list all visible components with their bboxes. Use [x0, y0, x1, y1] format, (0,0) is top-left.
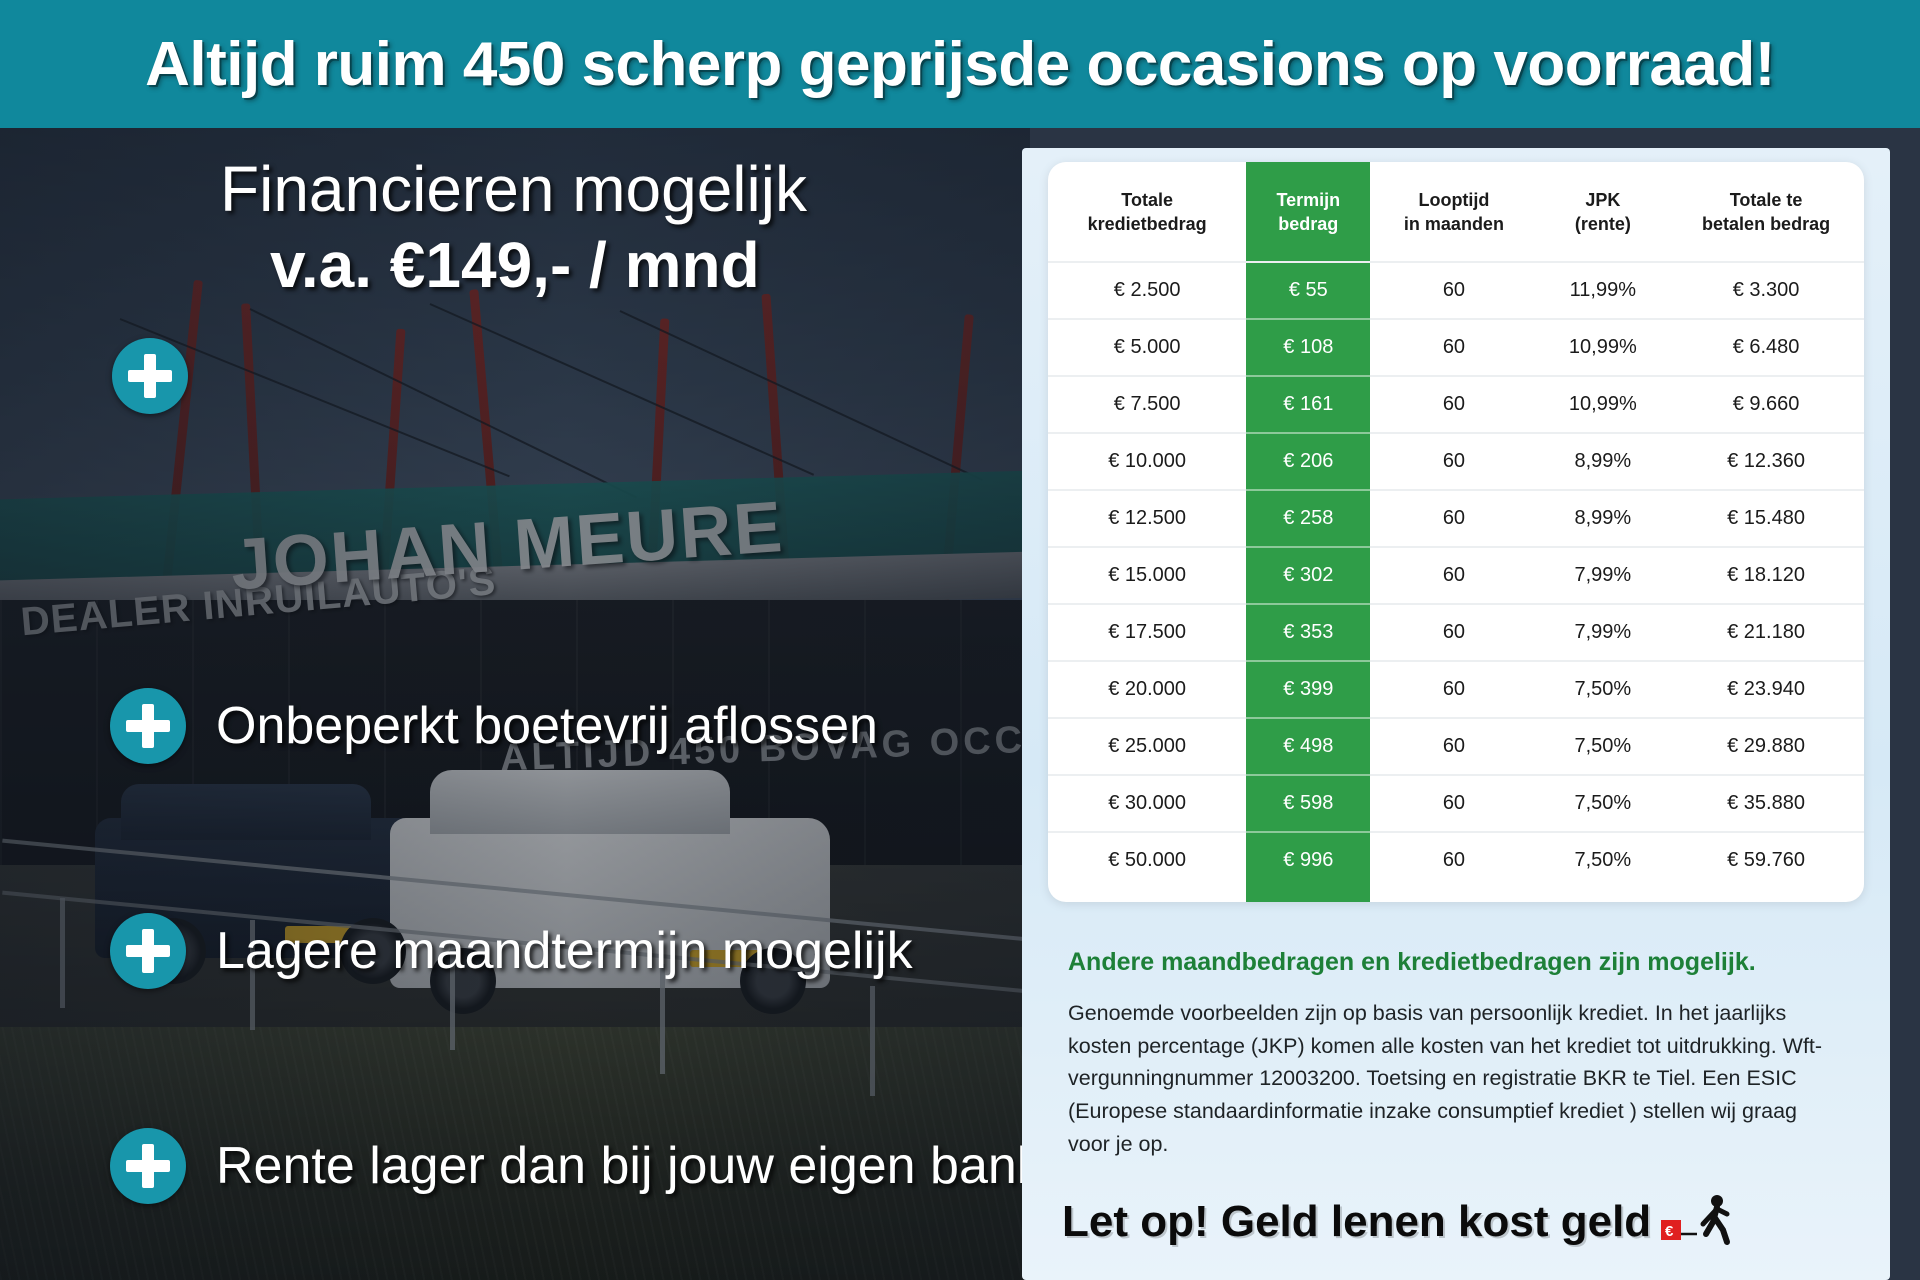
table-cell: 7,50%	[1538, 775, 1669, 832]
table-cell: 60	[1370, 547, 1537, 604]
table-row: € 2.500€ 556011,99%€ 3.300	[1048, 262, 1864, 319]
table-cell: € 15.480	[1668, 490, 1864, 547]
benefit-item-1: Onbeperkt boetevrij aflossen	[110, 688, 878, 764]
benefit-item-3: Rente lager dan bij jouw eigen bank	[110, 1128, 1043, 1204]
plus-icon	[110, 1128, 186, 1204]
disclaimer-heading: Andere maandbedragen en kredietbedragen …	[1068, 948, 1828, 977]
table-cell: € 50.000	[1048, 832, 1246, 888]
table-cell: € 996	[1246, 832, 1370, 888]
table-column-header: Termijn bedrag	[1246, 162, 1370, 262]
table-cell: € 353	[1246, 604, 1370, 661]
plus-icon	[110, 913, 186, 989]
table-cell: € 12.360	[1668, 433, 1864, 490]
table-row: € 20.000€ 399607,50%€ 23.940	[1048, 661, 1864, 718]
table-cell: € 3.300	[1668, 262, 1864, 319]
credit-warning-text: Let op! Geld lenen kost geld	[1062, 1197, 1651, 1247]
table-row: € 5.000€ 1086010,99%€ 6.480	[1048, 319, 1864, 376]
table-cell: € 206	[1246, 433, 1370, 490]
table-cell: 60	[1370, 433, 1537, 490]
table-column-header: Totale kredietbedrag	[1048, 162, 1246, 262]
finance-table-card: Totale kredietbedragTermijn bedragLoopti…	[1048, 162, 1864, 902]
table-column-header: JPK (rente)	[1538, 162, 1669, 262]
table-row: € 15.000€ 302607,99%€ 18.120	[1048, 547, 1864, 604]
headline-text: Altijd ruim 450 scherp geprijsde occasio…	[145, 29, 1775, 100]
table-cell: € 29.880	[1668, 718, 1864, 775]
table-cell: € 598	[1246, 775, 1370, 832]
table-cell: € 7.500	[1048, 376, 1246, 433]
table-cell: € 17.500	[1048, 604, 1246, 661]
table-cell: 8,99%	[1538, 490, 1669, 547]
table-row: € 10.000€ 206608,99%€ 12.360	[1048, 433, 1864, 490]
table-cell: 7,50%	[1538, 661, 1669, 718]
table-row: € 50.000€ 996607,50%€ 59.760	[1048, 832, 1864, 888]
table-row: € 7.500€ 1616010,99%€ 9.660	[1048, 376, 1864, 433]
hero-block: Financieren mogelijk v.a. €149,- / mnd	[110, 156, 1010, 300]
headline-bar: Altijd ruim 450 scherp geprijsde occasio…	[0, 0, 1920, 128]
finance-promo-banner: Altijd ruim 450 scherp geprijsde occasio…	[0, 0, 1920, 1280]
table-cell: 60	[1370, 490, 1537, 547]
table-cell: € 9.660	[1668, 376, 1864, 433]
table-cell: € 23.940	[1668, 661, 1864, 718]
table-row: € 25.000€ 498607,50%€ 29.880	[1048, 718, 1864, 775]
table-row: € 12.500€ 258608,99%€ 15.480	[1048, 490, 1864, 547]
table-cell: € 5.000	[1048, 319, 1246, 376]
table-cell: 7,50%	[1538, 718, 1669, 775]
table-cell: € 15.000	[1048, 547, 1246, 604]
table-cell: € 18.120	[1668, 547, 1864, 604]
table-cell: € 59.760	[1668, 832, 1864, 888]
geld-lenen-kost-geld-icon: €	[1661, 1194, 1735, 1250]
benefit-item-2: Lagere maandtermijn mogelijk	[110, 913, 913, 989]
table-cell: € 108	[1246, 319, 1370, 376]
disclaimer-block: Andere maandbedragen en kredietbedragen …	[1068, 948, 1828, 1160]
table-cell: 60	[1370, 319, 1537, 376]
table-header: Totale kredietbedragTermijn bedragLoopti…	[1048, 162, 1864, 262]
table-cell: € 258	[1246, 490, 1370, 547]
table-cell: € 55	[1246, 262, 1370, 319]
finance-table-panel: Totale kredietbedragTermijn bedragLoopti…	[1022, 148, 1890, 1280]
table-cell: 8,99%	[1538, 433, 1669, 490]
table-column-header: Looptijd in maanden	[1370, 162, 1537, 262]
table-cell: € 25.000	[1048, 718, 1246, 775]
table-cell: € 399	[1246, 661, 1370, 718]
benefit-label: Lagere maandtermijn mogelijk	[216, 921, 913, 981]
table-cell: € 35.880	[1668, 775, 1864, 832]
table-header-row: Totale kredietbedragTermijn bedragLoopti…	[1048, 162, 1864, 262]
table-cell: € 21.180	[1668, 604, 1864, 661]
table-cell: 7,50%	[1538, 832, 1669, 888]
table-cell: € 20.000	[1048, 661, 1246, 718]
plus-icon	[110, 688, 186, 764]
table-cell: 60	[1370, 718, 1537, 775]
svg-text:€: €	[1665, 1223, 1674, 1240]
table-row: € 30.000€ 598607,50%€ 35.880	[1048, 775, 1864, 832]
table-cell: € 2.500	[1048, 262, 1246, 319]
table-cell: 11,99%	[1538, 262, 1669, 319]
benefit-label: Rente lager dan bij jouw eigen bank	[216, 1136, 1043, 1196]
plus-icon	[112, 338, 188, 414]
table-cell: 10,99%	[1538, 319, 1669, 376]
table-cell: 7,99%	[1538, 604, 1669, 661]
table-cell: € 6.480	[1668, 319, 1864, 376]
table-cell: 60	[1370, 661, 1537, 718]
credit-warning: Let op! Geld lenen kost geld €	[1062, 1194, 1852, 1250]
table-cell: € 302	[1246, 547, 1370, 604]
table-cell: € 161	[1246, 376, 1370, 433]
table-cell: 60	[1370, 775, 1537, 832]
table-cell: 60	[1370, 376, 1537, 433]
table-cell: 60	[1370, 832, 1537, 888]
table-cell: € 498	[1246, 718, 1370, 775]
table-cell: 10,99%	[1538, 376, 1669, 433]
table-cell: 7,99%	[1538, 547, 1669, 604]
table-cell: € 30.000	[1048, 775, 1246, 832]
table-cell: 60	[1370, 604, 1537, 661]
hero-line-1: Financieren mogelijk	[110, 156, 1010, 224]
table-cell: 60	[1370, 262, 1537, 319]
disclaimer-body: Genoemde voorbeelden zijn op basis van p…	[1068, 997, 1828, 1160]
table-body: € 2.500€ 556011,99%€ 3.300€ 5.000€ 10860…	[1048, 262, 1864, 888]
left-content: Financieren mogelijk v.a. €149,- / mnd O…	[0, 128, 1030, 1280]
hero-line-2: v.a. €149,- / mnd	[110, 232, 1010, 300]
table-column-header: Totale te betalen bedrag	[1668, 162, 1864, 262]
table-cell: € 12.500	[1048, 490, 1246, 547]
table-row: € 17.500€ 353607,99%€ 21.180	[1048, 604, 1864, 661]
table-cell: € 10.000	[1048, 433, 1246, 490]
finance-table: Totale kredietbedragTermijn bedragLoopti…	[1048, 162, 1864, 888]
benefit-label: Onbeperkt boetevrij aflossen	[216, 696, 878, 756]
